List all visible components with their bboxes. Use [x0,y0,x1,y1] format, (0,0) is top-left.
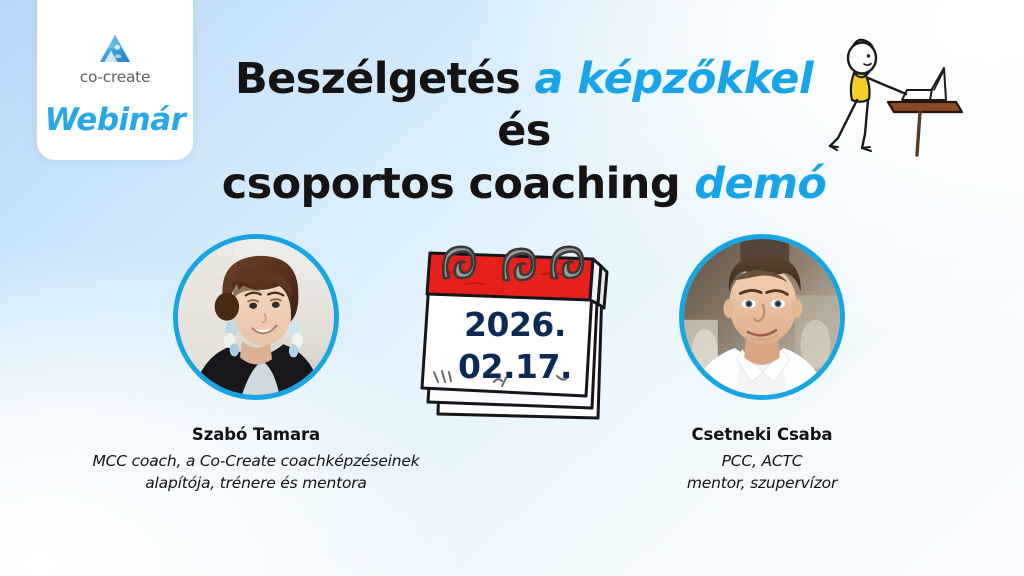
webinar-slide: co-create Webinár Beszélgetés a képzőkke… [0,0,1024,576]
speaker-role-line-1: PCC, ACTC [722,452,803,470]
headline-text-2: és [497,106,551,156]
speaker-role-line-1: MCC coach, a Co-Create coachképzéseinek [92,452,419,470]
speaker-role-line-2: mentor, szupervízor [687,474,837,492]
speaker-role-line-2: alapítója, trénere és mentora [145,474,366,492]
headline-text-3: csoportos coaching [222,159,695,209]
logo-wordmark: co-create [80,68,150,86]
headline-accent-1: a képzőkkel [534,54,813,104]
headline-line-2: csoportos coaching demó [222,159,827,209]
headline-text-1: Beszélgetés [235,54,535,104]
webinar-badge-label: Webinár [45,102,186,138]
headline-accent-2: demó [694,159,826,209]
speaker-role: PCC, ACTC mentor, szupervízor [612,450,912,494]
brand-card: co-create Webinár [37,0,193,160]
speaker-card-left: Szabó Tamara MCC coach, a Co-Create coac… [106,234,406,494]
avatar-szabo-tamara [173,234,339,400]
co-create-triangle-logo-icon [98,33,132,65]
avatar-csetneki-csaba [679,234,845,400]
speaker-card-right: Csetneki Csaba PCC, ACTC mentor, szuperv… [612,234,912,494]
speaker-role: MCC coach, a Co-Create coachképzéseinek … [76,450,436,494]
stick-figure-at-desk-icon [824,28,994,163]
speaker-name: Csetneki Csaba [612,425,912,444]
speaker-name: Szabó Tamara [106,425,406,444]
tear-off-calendar-icon: 2026. 02.17. [402,226,628,442]
page-title: Beszélgetés a képzőkkel és csoportos coa… [214,53,834,210]
headline-line-1: Beszélgetés a képzőkkel és [235,54,813,156]
